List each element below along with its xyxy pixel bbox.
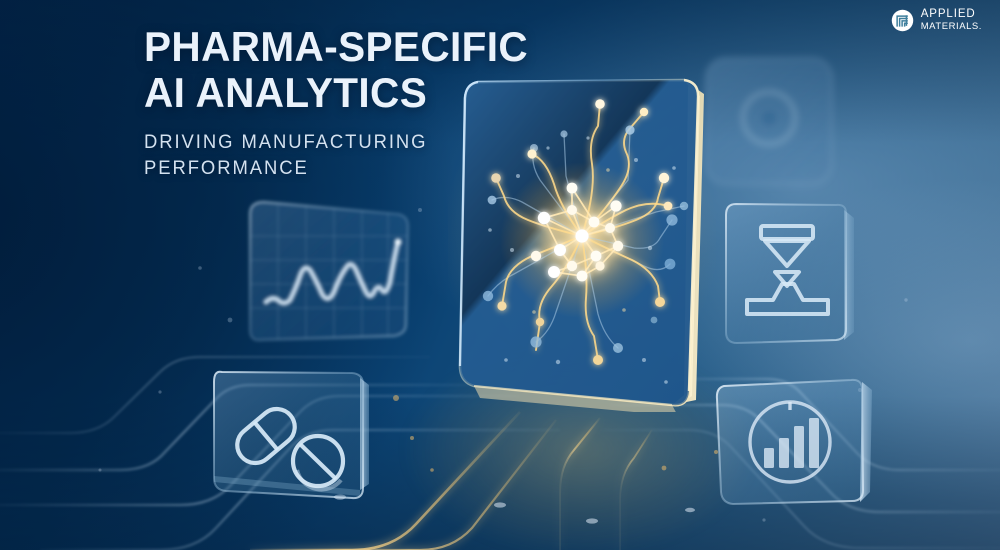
page-title-line-1: PHARMA-SPECIFIC bbox=[144, 24, 549, 70]
wafer-card[interactable] bbox=[700, 52, 840, 192]
trend-chart-card[interactable] bbox=[238, 196, 414, 358]
page-title-line-2: AI ANALYTICS bbox=[144, 70, 549, 116]
pill-tablet-card[interactable] bbox=[200, 358, 390, 506]
logo-wordmark: APPLIED MATERIALS. bbox=[921, 9, 982, 32]
banner-canvas: PHARMA-SPECIFIC AI ANALYTICS DRIVING MAN… bbox=[0, 0, 1000, 550]
logo-line-2: MATERIALS. bbox=[921, 22, 982, 32]
tablet-press-card[interactable] bbox=[716, 196, 866, 354]
page-subtitle-line-1: DRIVING MANUFACTURING bbox=[144, 130, 551, 156]
logo-line-1: APPLIED bbox=[921, 9, 982, 21]
applied-materials-spiral-square-icon bbox=[891, 9, 914, 32]
headline-block: PHARMA-SPECIFIC AI ANALYTICS DRIVING MAN… bbox=[144, 24, 564, 182]
brand-logo[interactable]: APPLIED MATERIALS. bbox=[891, 9, 982, 32]
subtitle-block: DRIVING MANUFACTURING PERFORMANCE bbox=[144, 130, 564, 182]
page-subtitle-line-2: PERFORMANCE bbox=[144, 156, 551, 182]
bar-gauge-card[interactable] bbox=[712, 374, 884, 516]
